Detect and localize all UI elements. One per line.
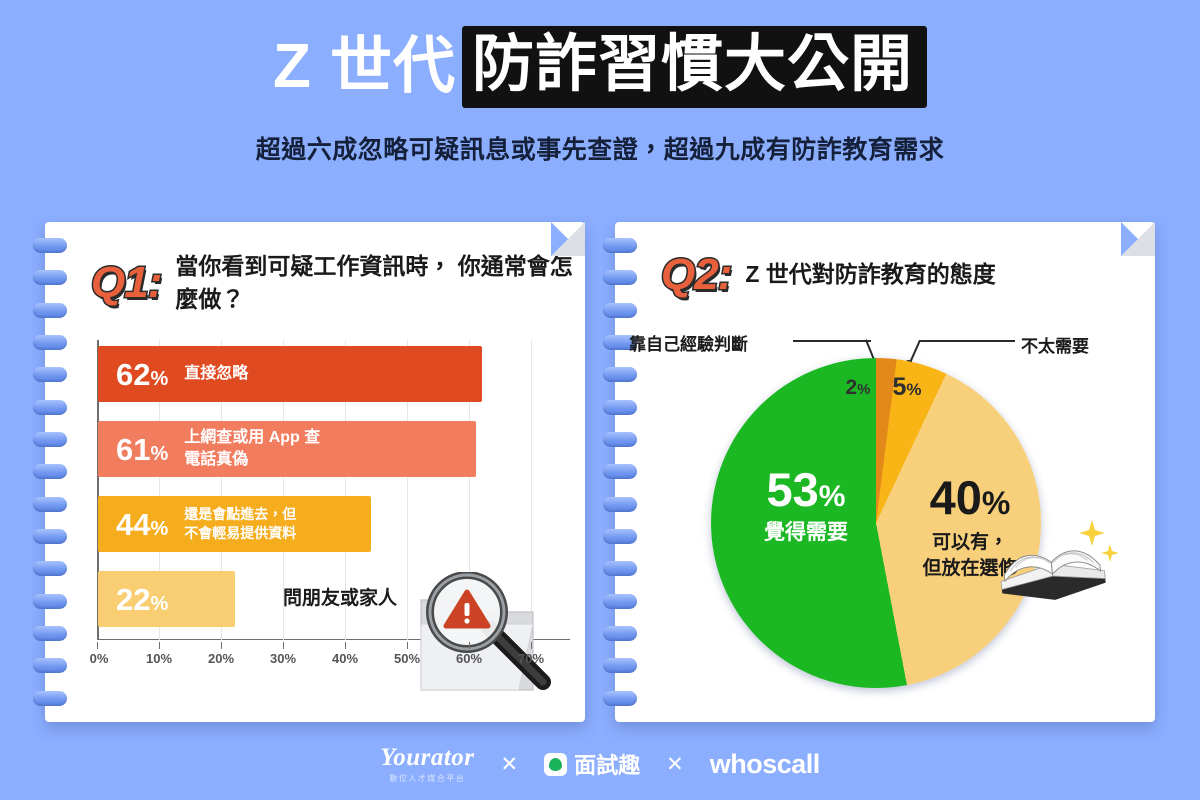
binding-ring-icon (603, 238, 637, 253)
title-highlight-text: 防詐習慣大公開 (462, 26, 927, 108)
binding-ring-icon (33, 561, 67, 576)
axis-tick-label: 0% (90, 651, 109, 666)
q1-question-text: 當你看到可疑工作資訊時， 你通常會怎麼做？ (175, 250, 585, 317)
bar-value-label: 22% (116, 584, 168, 615)
brand-mianshiqu[interactable]: 面試趣 (544, 748, 640, 780)
q1-badge: Q1: (91, 258, 161, 308)
binding-ring-icon (603, 464, 637, 479)
binding-ring-icon (33, 303, 67, 318)
cards-container: Q1: 當你看到可疑工作資訊時， 你通常會怎麼做？ 62% 直接忽略 (0, 222, 1200, 722)
q2-badge: Q2: (661, 250, 731, 300)
binding-ring-icon (33, 367, 67, 382)
q2-heading: Q2: Z 世代對防詐教育的態度 (615, 222, 1155, 300)
pie-leader-line (793, 340, 871, 342)
pie-value-label-5: 5% (881, 372, 933, 402)
spiral-binding-q2 (603, 238, 637, 706)
binding-ring-icon (603, 303, 637, 318)
bar-row: 44% 還是會點進去，但 不會輕易提供資料 (98, 496, 371, 552)
page-subtitle: 超過六成忽略可疑訊息或事先查證，超過九成有防詐教育需求 (0, 130, 1200, 166)
pie-chart-q2: 靠自己經驗判斷 不太需要 2% 5% 53% 覺得需要 40% 可以有， 但放在… (653, 322, 1123, 712)
binding-ring-icon (603, 270, 637, 285)
binding-ring-icon (603, 400, 637, 415)
brand-yourator[interactable]: Yourator 數位人才媒合平台 (380, 744, 474, 784)
binding-ring-icon (603, 529, 637, 544)
axis-tick (97, 642, 98, 649)
pie-leader-line (919, 340, 1015, 342)
axis-tick (345, 642, 346, 649)
folded-corner-icon (1121, 222, 1155, 256)
bar-chart-q1: 62% 直接忽略 61% 上網查或用 App 查 電話真偽 44% 還是會點進去… (97, 340, 562, 670)
binding-ring-icon (33, 335, 67, 350)
pie-sublabel-53: 覺得需要 (731, 520, 881, 545)
binding-ring-icon (603, 691, 637, 706)
axis-tick (469, 642, 470, 649)
axis-tick (159, 642, 160, 649)
binding-ring-icon (603, 561, 637, 576)
bar-chart-plot-area: 62% 直接忽略 61% 上網查或用 App 查 電話真偽 44% 還是會點進去… (97, 340, 562, 640)
bar-value-label: 44% (116, 509, 168, 540)
bar-row: 62% 直接忽略 (98, 346, 482, 402)
binding-ring-icon (33, 238, 67, 253)
magnifier-folder-warning-icon (415, 572, 565, 702)
bar-category-label: 還是會點進去，但 不會輕易提供資料 (184, 505, 296, 543)
binding-ring-icon (33, 594, 67, 609)
bar-category-label: 問朋友或家人 (283, 586, 397, 612)
axis-tick-label: 50% (394, 651, 420, 666)
brand-mianshiqu-name: 面試趣 (574, 748, 640, 780)
brand-whoscall[interactable]: whoscall (710, 749, 820, 780)
axis-tick-label: 30% (270, 651, 296, 666)
pie-value-label-53: 53% 覺得需要 (731, 462, 881, 546)
pie-callout-label-left: 靠自己經驗判斷 (629, 330, 748, 355)
axis-tick-label: 70% (518, 651, 544, 666)
brand-yourator-name: Yourator (380, 744, 474, 772)
binding-ring-icon (603, 497, 637, 512)
q1-heading: Q1: 當你看到可疑工作資訊時， 你通常會怎麼做？ (45, 222, 585, 317)
binding-ring-icon (603, 594, 637, 609)
brand-yourator-tagline: 數位人才媒合平台 (389, 773, 465, 784)
binding-ring-icon (33, 400, 67, 415)
axis-tick-label: 60% (456, 651, 482, 666)
binding-ring-icon (33, 626, 67, 641)
title-plain-text: Z 世代 (273, 36, 462, 98)
binding-ring-icon (603, 367, 637, 382)
axis-tick (221, 642, 222, 649)
axis-tick-label: 20% (208, 651, 234, 666)
axis-tick (407, 642, 408, 649)
pie-value-label-2: 2% (835, 375, 881, 400)
folded-corner-icon (551, 222, 585, 256)
binding-ring-icon (33, 497, 67, 512)
footer-brands: Yourator 數位人才媒合平台 ✕ 面試趣 ✕ whoscall (0, 744, 1200, 784)
pie-callout-label-right: 不太需要 (1021, 332, 1089, 357)
axis-tick-label: 40% (332, 651, 358, 666)
bar-category-label: 直接忽略 (184, 363, 248, 385)
bar-row: 61% 上網查或用 App 查 電話真偽 (98, 421, 476, 477)
bar-category-label: 上網查或用 App 查 電話真偽 (184, 427, 320, 470)
binding-ring-icon (603, 432, 637, 447)
q2-question-text: Z 世代對防詐教育的態度 (745, 258, 995, 291)
binding-ring-icon (33, 691, 67, 706)
binding-ring-icon (33, 464, 67, 479)
separator-x-icon: ✕ (501, 752, 519, 777)
binding-ring-icon (33, 658, 67, 673)
binding-ring-icon (603, 658, 637, 673)
bar-value-label: 62% (116, 359, 168, 390)
page-header: Z 世代 防詐習慣大公開 超過六成忽略可疑訊息或事先查證，超過九成有防詐教育需求 (0, 0, 1200, 166)
bar-row: 22% (98, 571, 235, 627)
separator-x-icon: ✕ (666, 752, 684, 777)
card-q1: Q1: 當你看到可疑工作資訊時， 你通常會怎麼做？ 62% 直接忽略 (45, 222, 585, 722)
bar-value-label: 61% (116, 434, 168, 465)
binding-ring-icon (33, 270, 67, 285)
x-axis-ticks: 0% 10% 20% 30% 40% 50% 60% 70% (97, 642, 562, 670)
axis-tick (531, 642, 532, 649)
binding-ring-icon (33, 432, 67, 447)
card-q2: Q2: Z 世代對防詐教育的態度 靠自己經驗判斷 不太需要 2% 5% 53% … (615, 222, 1155, 722)
spiral-binding-q1 (33, 238, 67, 706)
binding-ring-icon (603, 626, 637, 641)
mst-bag-icon (544, 753, 567, 776)
binding-ring-icon (33, 529, 67, 544)
open-book-sparkle-icon (988, 514, 1118, 614)
page-title: Z 世代 防詐習慣大公開 (0, 26, 1200, 108)
axis-tick (283, 642, 284, 649)
axis-tick-label: 10% (146, 651, 172, 666)
